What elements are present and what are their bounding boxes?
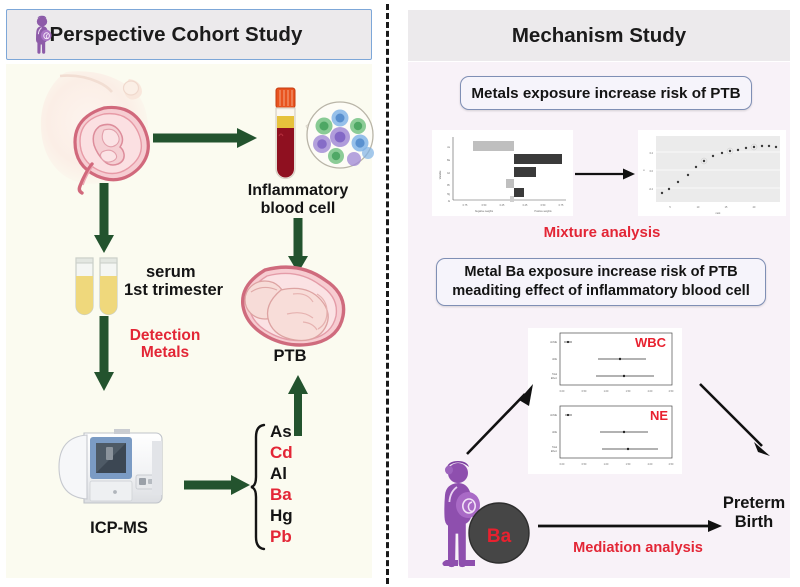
- svg-text:2.50: 2.50: [669, 390, 674, 393]
- svg-text:NE: NE: [650, 408, 668, 423]
- ptb-label: PTB: [234, 347, 346, 365]
- arrow-mediators-to-birth: [696, 380, 776, 462]
- icpms-label: ICP-MS: [52, 519, 186, 537]
- svg-text:ADE: ADE: [552, 358, 557, 361]
- svg-text:0.75: 0.75: [559, 204, 564, 207]
- svg-text:0.50: 0.50: [541, 204, 546, 207]
- arrow-serum-to-icpms: [93, 316, 115, 392]
- forest-plot-wbc: ACME ADE Total Effect 0.00 0.50 1.00 1.5…: [528, 328, 682, 400]
- metal-item-cd: Cd: [270, 442, 326, 463]
- arrow-mediation-direct: [538, 518, 724, 534]
- callout-ba-mediation: Metal Ba exposure increase risk of PTB m…: [436, 258, 766, 306]
- metal-item-ba: Ba: [270, 484, 326, 505]
- right-panel-header: Mechanism Study: [408, 10, 790, 61]
- svg-text:0.75: 0.75: [463, 204, 468, 207]
- svg-text:-0.2: -0.2: [649, 188, 654, 191]
- metal-item-hg: Hg: [270, 505, 326, 526]
- ba-exposure-marker: Ba: [468, 502, 530, 564]
- svg-text:0.25: 0.25: [500, 204, 505, 207]
- svg-text:ADE: ADE: [552, 431, 557, 434]
- left-panel-header: Perspective Cohort Study: [6, 9, 372, 60]
- pregnant-woman-icon: [21, 14, 65, 58]
- arrow-belly-to-serum: [93, 183, 115, 254]
- svg-text:rank: rank: [716, 212, 721, 215]
- svg-text:WBC: WBC: [635, 335, 667, 350]
- inflammatory-blood-cell-label: Inflammatory blood cell: [218, 182, 378, 218]
- svg-text:1.00: 1.00: [604, 463, 609, 466]
- svg-text:Total: Total: [552, 373, 558, 376]
- svg-text:Effect: Effect: [551, 450, 557, 453]
- preterm-birth-label: Preterm Birth: [708, 494, 800, 533]
- mixture-analysis-caption: Mixture analysis: [492, 225, 712, 242]
- detection-metals-label: Detection Metals: [100, 327, 230, 362]
- right-panel-body: Metals exposure increase risk of PTB: [408, 62, 790, 578]
- callout-metals-exposure: Metals exposure increase risk of PTB: [460, 76, 752, 110]
- arrow-belly-to-blood: [153, 127, 259, 149]
- metals-list: As Cd Al Ba Hg Pb: [270, 421, 326, 547]
- forest-plot-ne: ACME ADE Total Effect 0.00 0.50 1.00 1.5…: [528, 400, 682, 474]
- svg-text:Positive weights: Positive weights: [534, 210, 552, 213]
- mediation-analysis-caption: Mediation analysis: [548, 540, 728, 556]
- metals-bracket-icon: [251, 423, 267, 551]
- svg-text:0.00: 0.00: [560, 390, 565, 393]
- panel-divider: [386, 4, 389, 584]
- svg-text:Variable: Variable: [439, 170, 442, 179]
- mixture-bar-chart: As Ba Cd Pb Hg Al Variable 0.75 0.50 0.2…: [432, 130, 573, 216]
- metal-item-pb: Pb: [270, 526, 326, 547]
- svg-text:0.25: 0.25: [523, 204, 528, 207]
- left-panel-body: Inflammatory blood cell: [6, 64, 372, 578]
- svg-text:2.50: 2.50: [669, 463, 674, 466]
- left-panel: Perspective Cohort Study: [0, 0, 381, 587]
- arrow-bar-to-scatter: [575, 166, 637, 182]
- svg-text:Effect: Effect: [551, 377, 557, 380]
- svg-text:ACME: ACME: [550, 341, 557, 344]
- fetus-in-womb-illustration: [231, 260, 349, 350]
- icp-ms-instrument-illustration: [54, 429, 184, 514]
- graphical-abstract: Perspective Cohort Study: [0, 0, 800, 587]
- svg-text:0.50: 0.50: [482, 204, 487, 207]
- serum-sample-tubes-illustration: [70, 256, 124, 316]
- svg-text:Negative weights: Negative weights: [475, 210, 494, 213]
- right-panel: Mechanism Study Metals exposure increase…: [398, 0, 800, 587]
- svg-text:1.00: 1.00: [604, 390, 609, 393]
- svg-text:2.00: 2.00: [648, 390, 653, 393]
- exposure-response-scatter: 0.2 0.0 -0.2 h 5 10 15 20 rank: [638, 130, 786, 216]
- metal-item-al: Al: [270, 463, 326, 484]
- mechanism-study-title: Mechanism Study: [512, 24, 686, 48]
- metal-item-as: As: [270, 421, 326, 442]
- svg-text:0.00: 0.00: [560, 463, 565, 466]
- inflammatory-blood-cells-magnifier: [296, 96, 376, 176]
- svg-text:1.50: 1.50: [626, 390, 631, 393]
- arrow-icpms-to-metals: [184, 474, 252, 496]
- svg-text:1.50: 1.50: [626, 463, 631, 466]
- svg-text:0.50: 0.50: [582, 390, 587, 393]
- ba-label: Ba: [487, 526, 512, 547]
- svg-text:0.50: 0.50: [582, 463, 587, 466]
- svg-text:ACME: ACME: [550, 414, 557, 417]
- arrow-ba-to-mediators: [463, 380, 537, 458]
- svg-text:2.00: 2.00: [648, 463, 653, 466]
- svg-text:Total: Total: [552, 446, 558, 449]
